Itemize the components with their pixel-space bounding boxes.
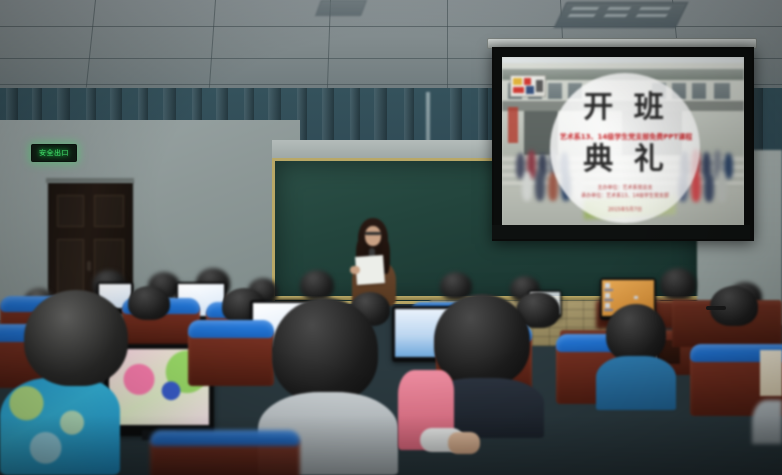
projected-slide: 开 班 艺术系13、14级学生党支部免费PPT课程 典 礼 主办单位：艺术系党总… xyxy=(502,57,744,231)
classroom-photo-scene: 安全出口 xyxy=(0,0,782,475)
air-vent-grille xyxy=(554,2,689,28)
door-frame-top xyxy=(46,178,134,183)
presenter-hand xyxy=(350,266,360,274)
chair-back[interactable] xyxy=(188,320,274,338)
presenter-glasses-icon xyxy=(365,232,381,235)
presenter-face xyxy=(365,226,381,246)
slide-headline-line2: 典 礼 xyxy=(557,145,695,175)
speaker-grille-icon xyxy=(752,400,782,444)
emergency-exit-sign: 安全出口 xyxy=(31,144,77,162)
person-shirt xyxy=(0,378,120,475)
screen-bottom-bar xyxy=(492,225,750,239)
projection-screen: 开 班 艺术系13、14级学生党支部免费PPT课程 典 礼 主办单位：艺术系党总… xyxy=(492,47,754,241)
glasses-icon xyxy=(706,306,726,310)
exit-sign-label: 安全出口 xyxy=(39,150,69,157)
monitor-edge-sliver[interactable] xyxy=(760,350,782,396)
slide-headline-line1: 开 班 xyxy=(557,93,695,123)
slide-credit-line1: 主办单位：艺术系党总支 xyxy=(558,185,692,192)
door-handle[interactable] xyxy=(87,261,91,271)
school-emblem-icon xyxy=(510,75,546,97)
ceiling-tile-line xyxy=(447,0,448,88)
slide-red-banner: 艺术系13、14级学生党支部免费PPT课程 xyxy=(526,133,726,141)
person-head xyxy=(128,286,170,320)
air-vent-grille xyxy=(315,0,367,16)
chair-back[interactable] xyxy=(150,430,300,446)
person-head xyxy=(24,290,128,386)
slide-credit-line2: 承办单位：艺术系13、14级学生党支部 xyxy=(548,193,702,200)
person-hand xyxy=(448,432,480,454)
person-shirt xyxy=(596,356,676,410)
slide-date: 2015年5月7日 xyxy=(558,207,692,214)
